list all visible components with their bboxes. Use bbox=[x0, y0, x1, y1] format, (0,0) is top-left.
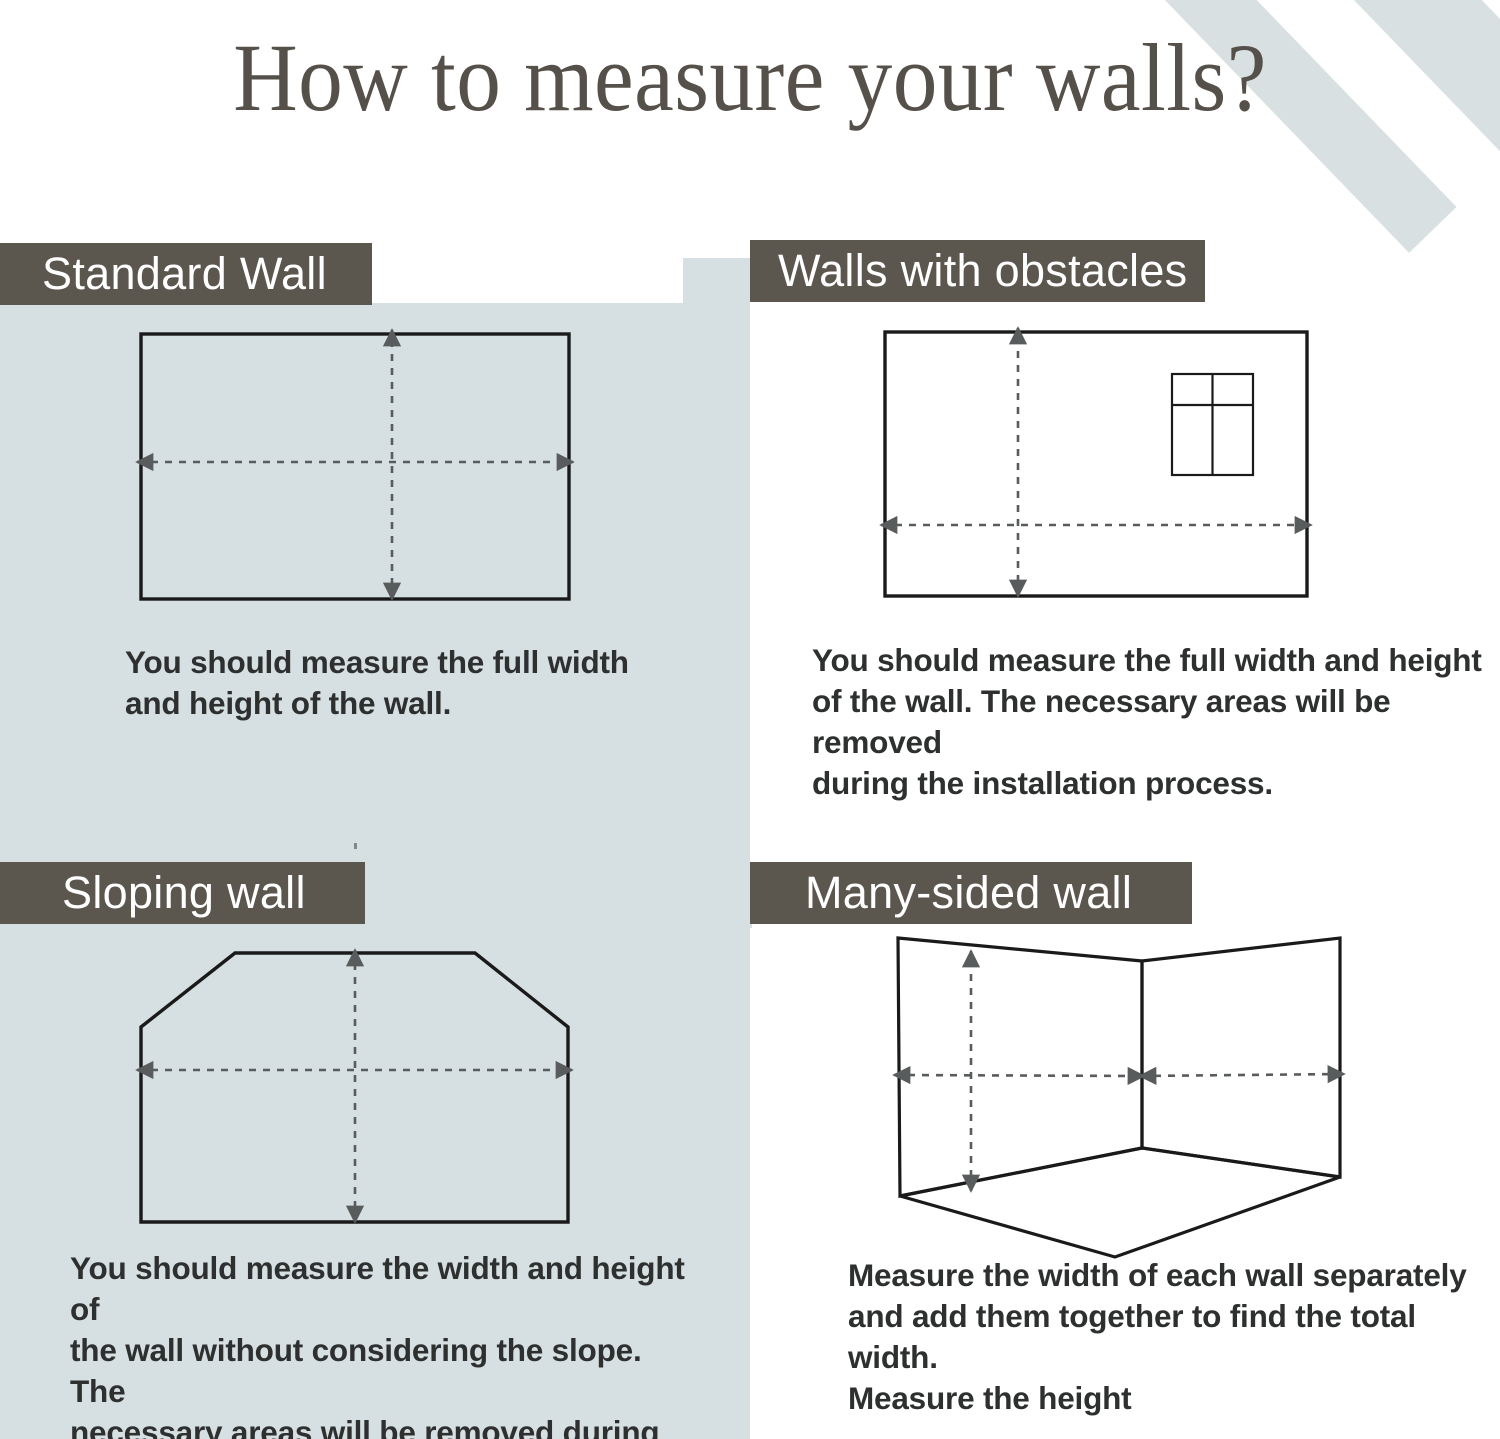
wall-outline-rect bbox=[141, 334, 569, 599]
caption-many-sided-wall: Measure the width of each wall separatel… bbox=[848, 1255, 1478, 1419]
diagram-walls-with-obstacles bbox=[860, 315, 1340, 625]
diagram-many-sided-wall bbox=[860, 915, 1370, 1285]
window-obstacle bbox=[1172, 374, 1253, 475]
wall-outline-rect bbox=[885, 332, 1307, 596]
caption-standard-wall: You should measure the full width and he… bbox=[125, 642, 645, 724]
width-right-measure-arrow bbox=[1140, 1074, 1344, 1076]
diagram-sloping-wall bbox=[110, 930, 610, 1250]
page-title: How to measure your walls? bbox=[53, 28, 1448, 129]
section-header-walls-with-obstacles: Walls with obstacles bbox=[750, 240, 1205, 302]
width-left-measure-arrow bbox=[894, 1075, 1144, 1076]
infographic-canvas: How to measure your walls? Standard Wall… bbox=[0, 0, 1500, 1439]
diagram-standard-wall bbox=[110, 315, 610, 625]
caption-walls-with-obstacles: You should measure the full width and he… bbox=[812, 640, 1492, 804]
floor-face bbox=[900, 1148, 1340, 1257]
section-header-sloping-wall: Sloping wall bbox=[0, 862, 365, 924]
section-header-standard-wall: Standard Wall bbox=[0, 243, 372, 305]
wall-left-face bbox=[898, 938, 1142, 1196]
panel-background-notch-top-right bbox=[683, 258, 750, 306]
speck-artifact bbox=[354, 843, 357, 849]
caption-sloping-wall: You should measure the width and height … bbox=[70, 1248, 690, 1439]
wall-right-face bbox=[1142, 938, 1340, 1177]
